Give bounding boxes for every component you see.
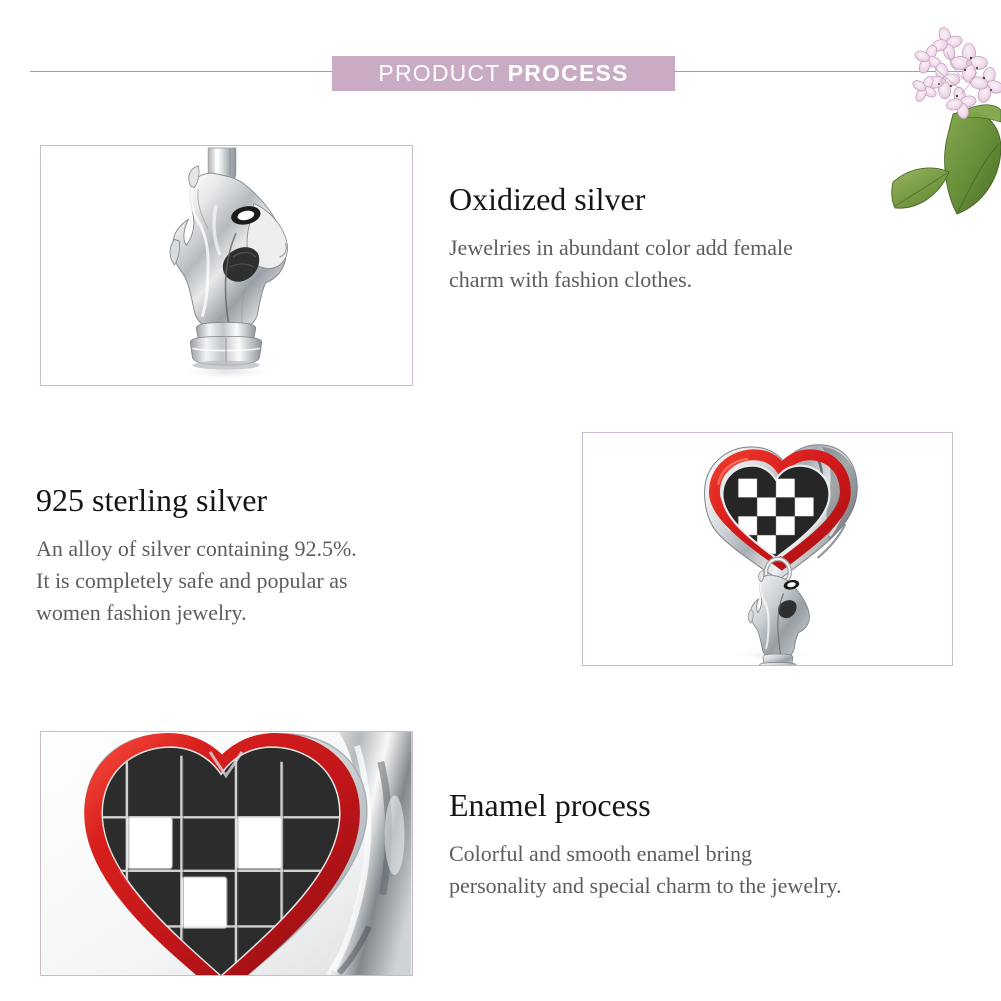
heart-charm-illustration	[583, 433, 952, 665]
banner-label-light: PRODUCT	[378, 60, 507, 86]
knight-base	[190, 323, 261, 370]
blossom-group	[906, 23, 1001, 122]
section-oxidized-silver: Oxidized silver Jewelries in abundant co…	[449, 181, 949, 296]
banner-label-bold: PROCESS	[508, 60, 629, 86]
section-body-line: Colorful and smooth enamel bring	[449, 838, 989, 870]
section-body-line: women fashion jewelry.	[36, 597, 516, 629]
section-heading-oxidized: Oxidized silver	[449, 181, 949, 218]
section-body-line: personality and special charm to the jew…	[449, 870, 989, 902]
section-body-line: It is completely safe and popular as	[36, 565, 516, 597]
enamel-heart-macro-photo[interactable]	[40, 731, 413, 976]
knight-illustration	[41, 146, 412, 385]
section-925-sterling-silver: 925 sterling silver An alloy of silver c…	[36, 482, 516, 628]
section-body-line: Jewelries in abundant color add female	[449, 232, 949, 264]
page-title-banner: PRODUCT PROCESS	[332, 56, 675, 91]
section-heading-enamel: Enamel process	[449, 787, 989, 824]
section-enamel-process: Enamel process Colorful and smooth ename…	[449, 787, 989, 902]
chess-knight-charm-photo[interactable]	[40, 145, 413, 386]
section-body-line: An alloy of silver containing 92.5%.	[36, 533, 516, 565]
section-body-line: charm with fashion clothes.	[449, 264, 949, 296]
banner-label: PRODUCT PROCESS	[378, 60, 628, 87]
heart-charm-with-dangling-knight-photo[interactable]	[582, 432, 953, 666]
enamel-macro-illustration	[41, 732, 412, 975]
section-heading-sterling: 925 sterling silver	[36, 482, 516, 519]
